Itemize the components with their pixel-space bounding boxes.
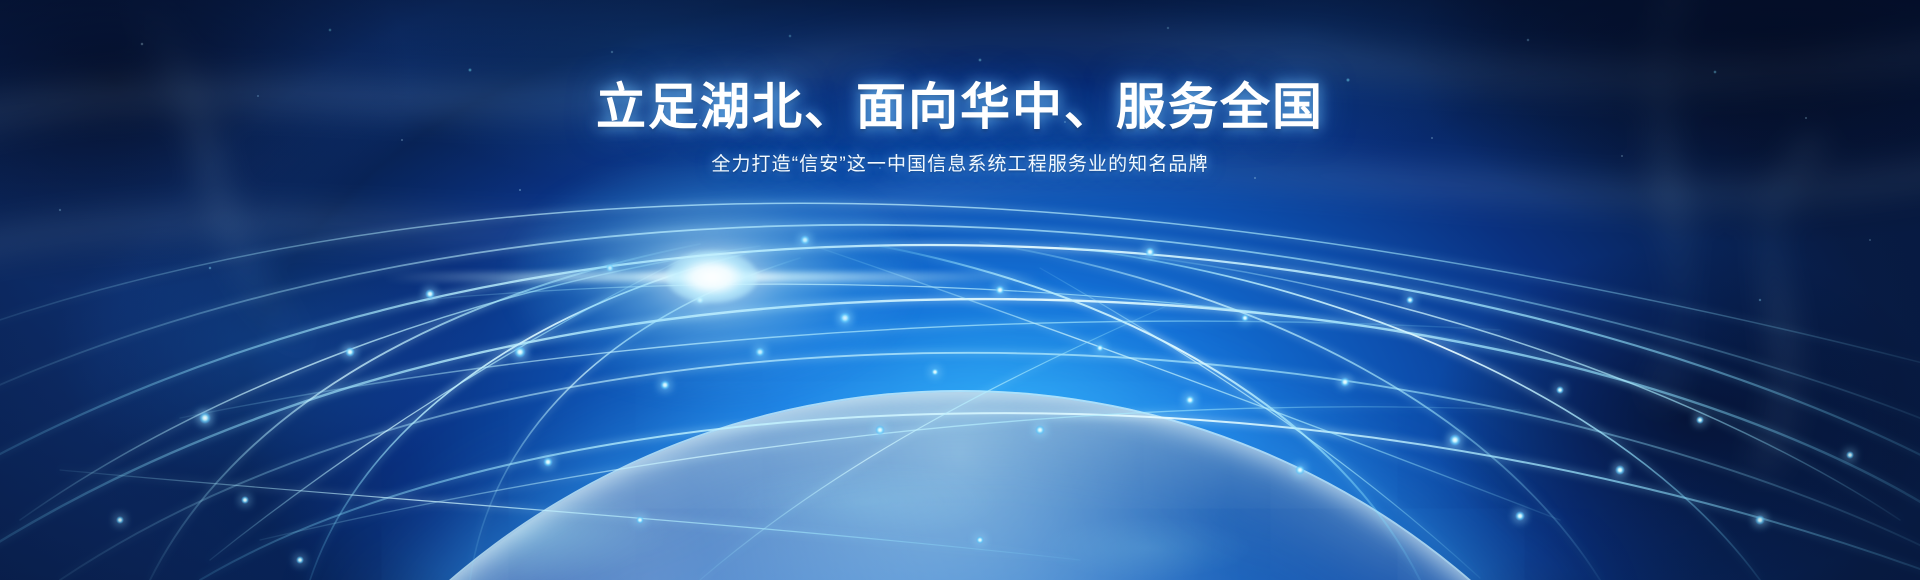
hero-subline: 全力打造“信安”这一中国信息系统工程服务业的知名品牌 [0, 151, 1920, 180]
hero-banner: 立足湖北、面向华中、服务全国 全力打造“信安”这一中国信息系统工程服务业的知名品… [0, 0, 1920, 580]
hero-headline: 立足湖北、面向华中、服务全国 [0, 78, 1920, 137]
hero-text-block: 立足湖北、面向华中、服务全国 全力打造“信安”这一中国信息系统工程服务业的知名品… [0, 78, 1920, 180]
